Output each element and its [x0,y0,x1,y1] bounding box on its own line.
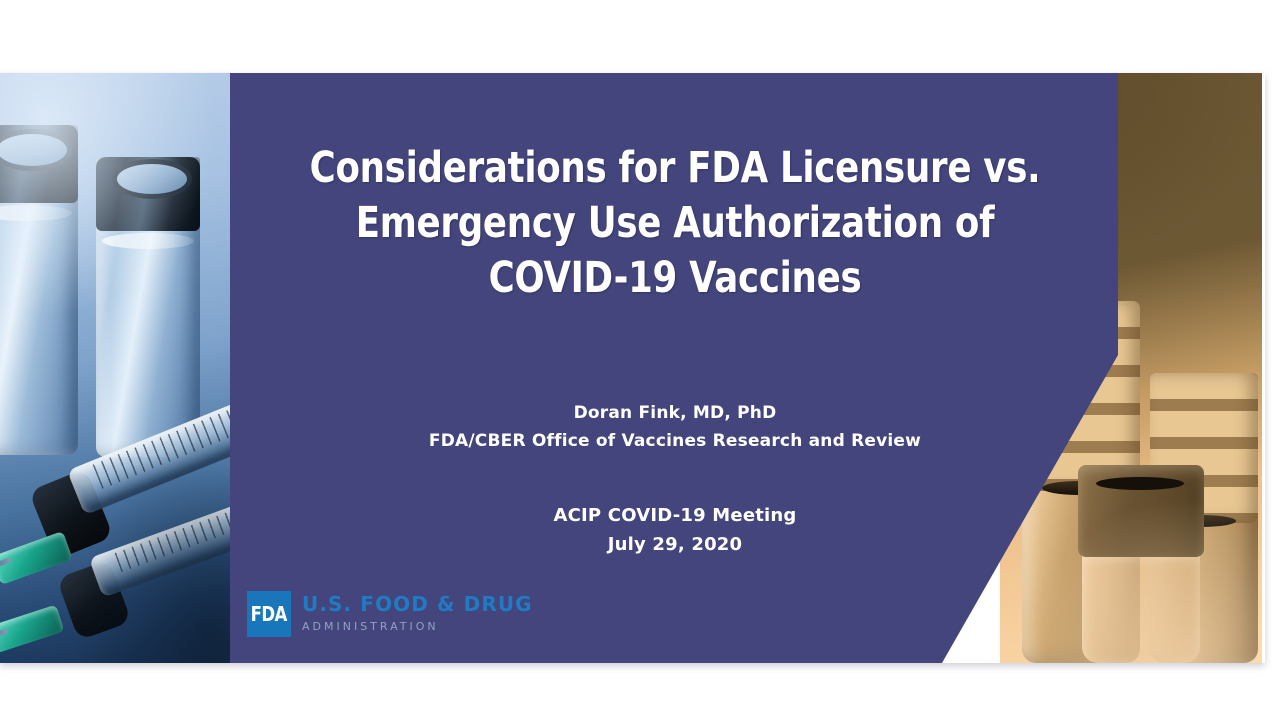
fda-wordmark: U.S. FOOD & DRUG ADMINISTRATION [302,591,533,636]
presenter-name: Doran Fink, MD, PhD [250,400,1100,428]
presenter-block: Doran Fink, MD, PhD FDA/CBER Office of V… [250,400,1100,455]
left-photo-lighting [0,73,232,663]
fda-mark-label: FDA [251,602,287,626]
fda-logo: FDA U.S. FOOD & DRUG ADMINISTRATION [247,591,533,637]
event-meeting-name: ACIP COVID-19 Meeting [250,501,1100,530]
title-line-2: Emergency Use Authorization of [356,198,995,248]
title-block: Considerations for FDA Licensure vs.Emer… [250,141,1100,306]
title-line-3: COVID-19 Vaccines [489,253,862,303]
fda-mark-icon: FDA [247,591,291,637]
slide-frame: Considerations for FDA Licensure vs.Emer… [0,0,1280,720]
title-line-1: Considerations for FDA Licensure vs. [310,143,1041,193]
event-block: ACIP COVID-19 Meeting July 29, 2020 [250,501,1100,559]
fda-wordmark-primary: U.S. FOOD & DRUG [302,594,533,615]
presenter-affiliation: FDA/CBER Office of Vaccines Research and… [250,428,1100,456]
fda-wordmark-secondary: ADMINISTRATION [302,618,533,636]
page-title: Considerations for FDA Licensure vs.Emer… [284,141,1066,306]
event-date: July 29, 2020 [250,530,1100,559]
left-photo-vaccine-vials [0,73,232,663]
slide-canvas: Considerations for FDA Licensure vs.Emer… [0,73,1265,663]
